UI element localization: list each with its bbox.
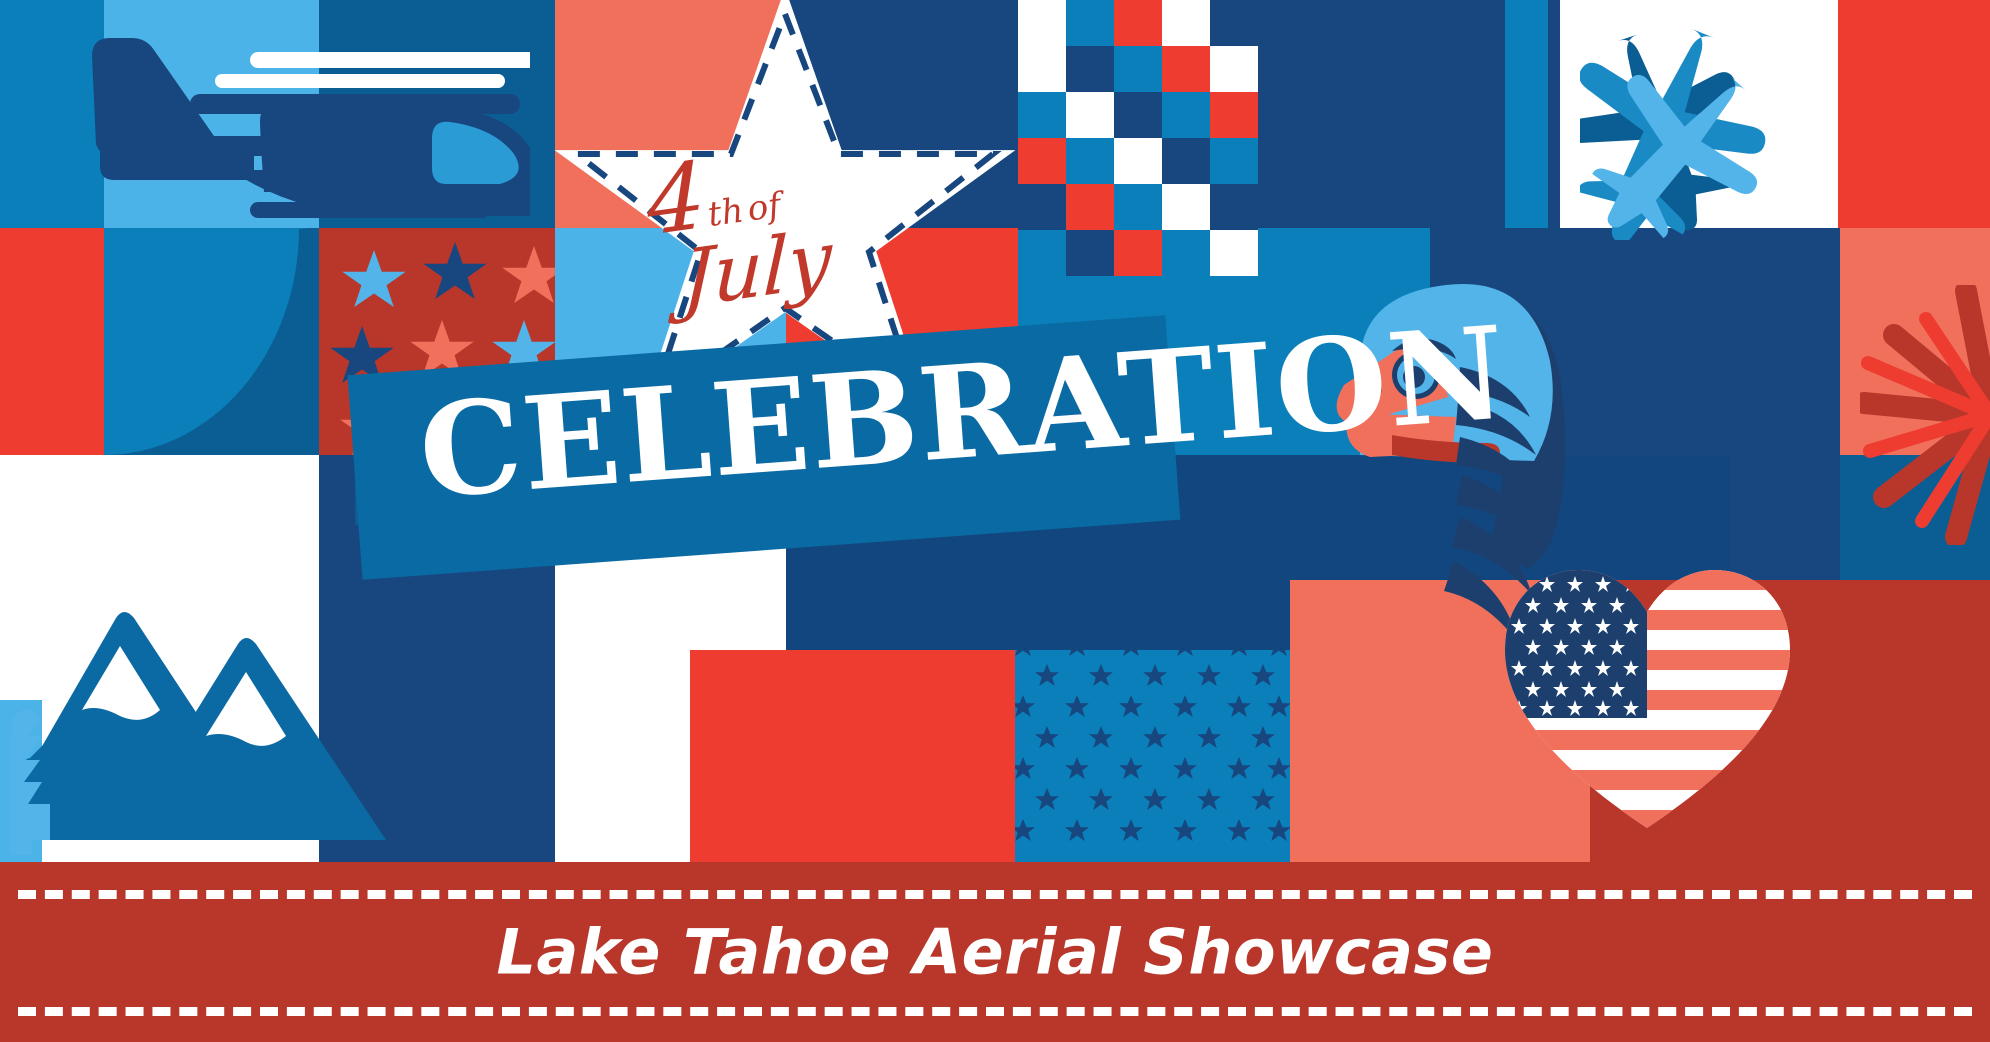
checkerboard-pattern [1018, 230, 1258, 276]
mosaic-cell [1015, 650, 1290, 862]
helicopter-icon [60, 20, 530, 220]
mosaic-cell [1255, 0, 1505, 228]
airplane-trio-icon [1580, 10, 1950, 240]
holiday-script-text: 4th of July [642, 135, 898, 365]
mosaic-cell [1548, 0, 1560, 228]
bottom-banner: Lake Tahoe Aerial Showcase [0, 862, 1990, 1042]
mosaic-cell [690, 650, 1015, 862]
banner-dashed-border-top [18, 890, 1972, 899]
banner-dashed-border-bottom [18, 1007, 1972, 1016]
star-icon [422, 242, 488, 305]
checkerboard-pattern [1018, 0, 1258, 230]
holiday-numeral: 4 [646, 158, 707, 240]
mosaic-cell [1505, 0, 1548, 228]
mountain-range-icon [10, 570, 400, 865]
usa-heart-flag-icon [1505, 570, 1790, 830]
poster-canvas: 4th of July CELEBRATION Lake Tahoe Aeria… [0, 0, 1990, 1042]
star-icon [341, 250, 407, 313]
star-field-pattern [1015, 650, 1290, 862]
event-title: Lake Tahoe Aerial Showcase [0, 916, 1990, 989]
